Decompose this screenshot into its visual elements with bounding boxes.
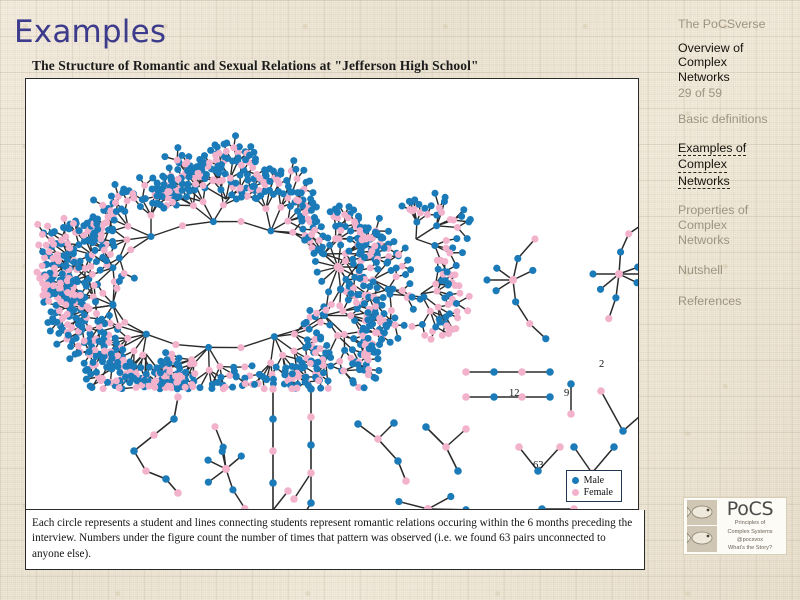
- legend-dot-male: [572, 477, 579, 484]
- sidebar-item-nutshell[interactable]: Nutshell: [678, 263, 790, 278]
- figure-title: The Structure of Romantic and Sexual Rel…: [25, 58, 649, 78]
- svg-text:2: 2: [599, 359, 604, 370]
- sidebar-item-overview-line3: Networks: [678, 70, 730, 84]
- sidebar-item-properties-line1: Properties of: [678, 203, 748, 217]
- logo-handle: @pocsvox: [717, 536, 783, 544]
- sidebar-item-examples-line3: Networks: [678, 174, 730, 190]
- sidebar-item-references[interactable]: References: [678, 294, 790, 309]
- logo-text: PoCS Principles of Complex Systems @pocs…: [717, 500, 783, 552]
- sidebar-item-properties-line3: Networks: [678, 233, 730, 247]
- sidebar-item-examples[interactable]: Examples of Complex Networks: [678, 141, 790, 190]
- sidebar-item-examples-line1: Examples of: [678, 141, 746, 157]
- svg-text:12: 12: [509, 388, 520, 399]
- slide-counter: 29 of 59: [678, 86, 790, 100]
- network-figure-panel: 212963 Male Female: [25, 78, 639, 510]
- logo-subtitle-line2: Complex Systems: [717, 528, 783, 536]
- sidebar-item-basic-definitions[interactable]: Basic definitions: [678, 112, 790, 127]
- legend-label-female: Female: [584, 487, 613, 498]
- legend-dot-female: [572, 489, 579, 496]
- svg-text:9: 9: [564, 388, 569, 399]
- sidebar-nav: The PoCSverse Overview of Complex Networ…: [678, 17, 790, 318]
- sidebar-item-overview-line1: Overview of: [678, 41, 743, 55]
- legend-item-female: Female: [572, 486, 613, 498]
- pocs-logo[interactable]: PoCS Principles of Complex Systems @pocs…: [683, 497, 787, 555]
- page-title: Examples: [14, 14, 166, 50]
- sidebar-item-pocsverse[interactable]: The PoCSverse: [678, 17, 790, 32]
- network-graph: 212963: [26, 79, 638, 509]
- legend-label-male: Male: [584, 475, 605, 486]
- logo-title: PoCS: [717, 500, 783, 519]
- legend-item-male: Male: [572, 474, 613, 486]
- sidebar-item-overview-line2: Complex: [678, 55, 727, 69]
- sidebar-item-examples-line2: Complex: [678, 157, 727, 173]
- logo-tagline: What's the Story?: [717, 546, 783, 552]
- svg-text:63: 63: [533, 460, 544, 471]
- sidebar-item-overview[interactable]: Overview of Complex Networks 29 of 59: [678, 41, 790, 100]
- fish-icon: [687, 500, 717, 552]
- legend: Male Female: [566, 470, 622, 502]
- sidebar-item-properties-line2: Complex: [678, 218, 727, 232]
- slide-root: Examples The Structure of Romantic and S…: [0, 0, 800, 600]
- sidebar-item-properties[interactable]: Properties of Complex Networks: [678, 203, 790, 247]
- figure-caption: Each circle represents a student and lin…: [25, 510, 645, 570]
- logo-subtitle-line1: Principles of: [717, 519, 783, 527]
- figure-block: The Structure of Romantic and Sexual Rel…: [25, 58, 649, 570]
